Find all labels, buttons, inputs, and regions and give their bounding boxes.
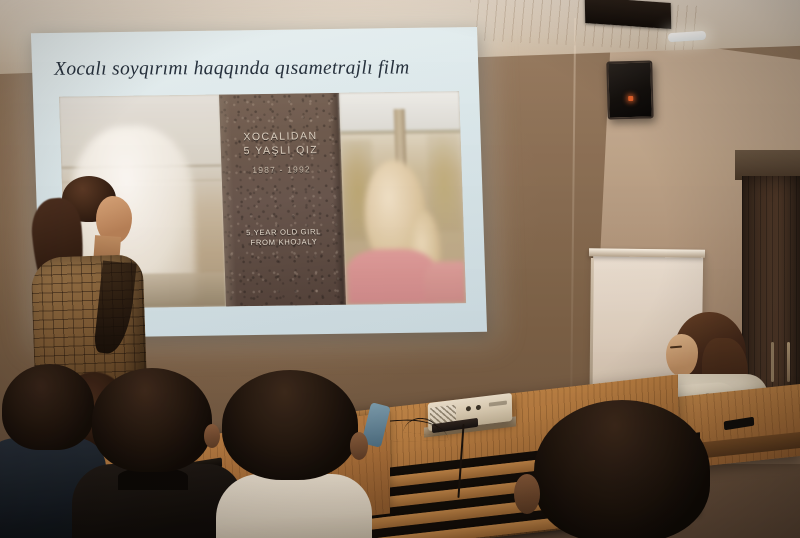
flipchart-top-bar: [589, 248, 705, 258]
gravestone-line-2: 5 YAŞLI QIZ: [221, 143, 341, 159]
attendee-front-right-ear: [514, 474, 540, 514]
cabinet-handle-icon: [787, 342, 790, 382]
attendee-second: [78, 368, 222, 538]
projector-label-strip: [489, 400, 507, 406]
gravestone-dates: 1987 - 1992: [221, 164, 341, 176]
gravestone-grain-texture: [219, 93, 346, 307]
projector-button-icon: [466, 406, 471, 412]
gravestone-caption-line-2: FROM KHOJALY: [224, 237, 344, 249]
attendee-third-ear: [350, 432, 368, 460]
attendee-front-right-hair: [534, 400, 710, 538]
speaker-led-icon: [628, 96, 633, 101]
wall-speaker-icon: [606, 60, 654, 119]
gravestone-inscription: XOCALIDAN 5 YAŞLI QIZ 1987 - 1992: [220, 129, 342, 176]
attendee-third-hoodie: [216, 474, 372, 538]
slide-title: Xocalı soyqırımı haqqında qısametrajlı f…: [54, 57, 467, 80]
attendee-third-hair: [222, 370, 358, 480]
seated-attendee-face: [666, 334, 698, 376]
presentation-room-photo: Xocalı soyqırımı haqqında qısametrajlı f…: [0, 0, 800, 538]
attendee-third: [212, 370, 372, 538]
attendee-second-hair: [92, 368, 212, 472]
slide-panel-center-gravestone: XOCALIDAN 5 YAŞLI QIZ 1987 - 1992 5 YEAR…: [219, 93, 346, 307]
right-panel-child-shirt-2: [424, 261, 466, 304]
projector-button-icon: [476, 405, 481, 411]
gravestone-english-caption: 5 YEAR OLD GIRL FROM KHOJALY: [223, 226, 344, 249]
attendee-front-right: [516, 400, 726, 538]
slide-panel-right: [339, 91, 466, 305]
